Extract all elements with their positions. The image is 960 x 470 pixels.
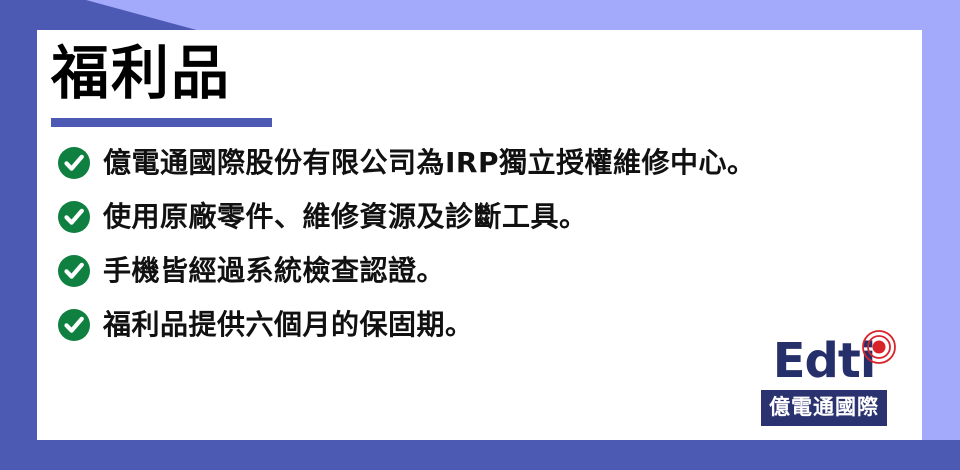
radio-signal-icon: [862, 330, 896, 364]
check-circle-icon: [57, 200, 91, 234]
company-logo: Edti 億電通國際: [744, 334, 904, 426]
logo-wordmark-group: Edti: [744, 334, 904, 388]
list-item: 使用原廠零件、維修資源及診斷工具。: [57, 190, 907, 244]
title-underline-rule: [51, 118, 272, 127]
page-title: 福利品: [51, 36, 231, 110]
slide-canvas: 福利品 億電通國際股份有限公司為IRP獨立授權維修中心。 使用原廠零件、維修資源: [0, 0, 960, 470]
check-circle-icon: [57, 146, 91, 180]
list-item-label: 福利品提供六個月的保固期。: [103, 308, 474, 342]
bullet-list: 億電通國際股份有限公司為IRP獨立授權維修中心。 使用原廠零件、維修資源及診斷工…: [57, 136, 907, 352]
list-item: 億電通國際股份有限公司為IRP獨立授權維修中心。: [57, 136, 907, 190]
list-item: 手機皆經過系統檢查認證。: [57, 244, 907, 298]
list-item-label: 億電通國際股份有限公司為IRP獨立授權維修中心。: [103, 146, 756, 180]
check-circle-icon: [57, 308, 91, 342]
logo-badge-label: 億電通國際: [761, 390, 887, 426]
check-circle-icon: [57, 254, 91, 288]
list-item-label: 使用原廠零件、維修資源及診斷工具。: [103, 200, 588, 234]
logo-wordmark: Edti: [773, 333, 876, 389]
content-card: 福利品 億電通國際股份有限公司為IRP獨立授權維修中心。 使用原廠零件、維修資源: [37, 30, 922, 440]
list-item-label: 手機皆經過系統檢查認證。: [103, 254, 445, 288]
